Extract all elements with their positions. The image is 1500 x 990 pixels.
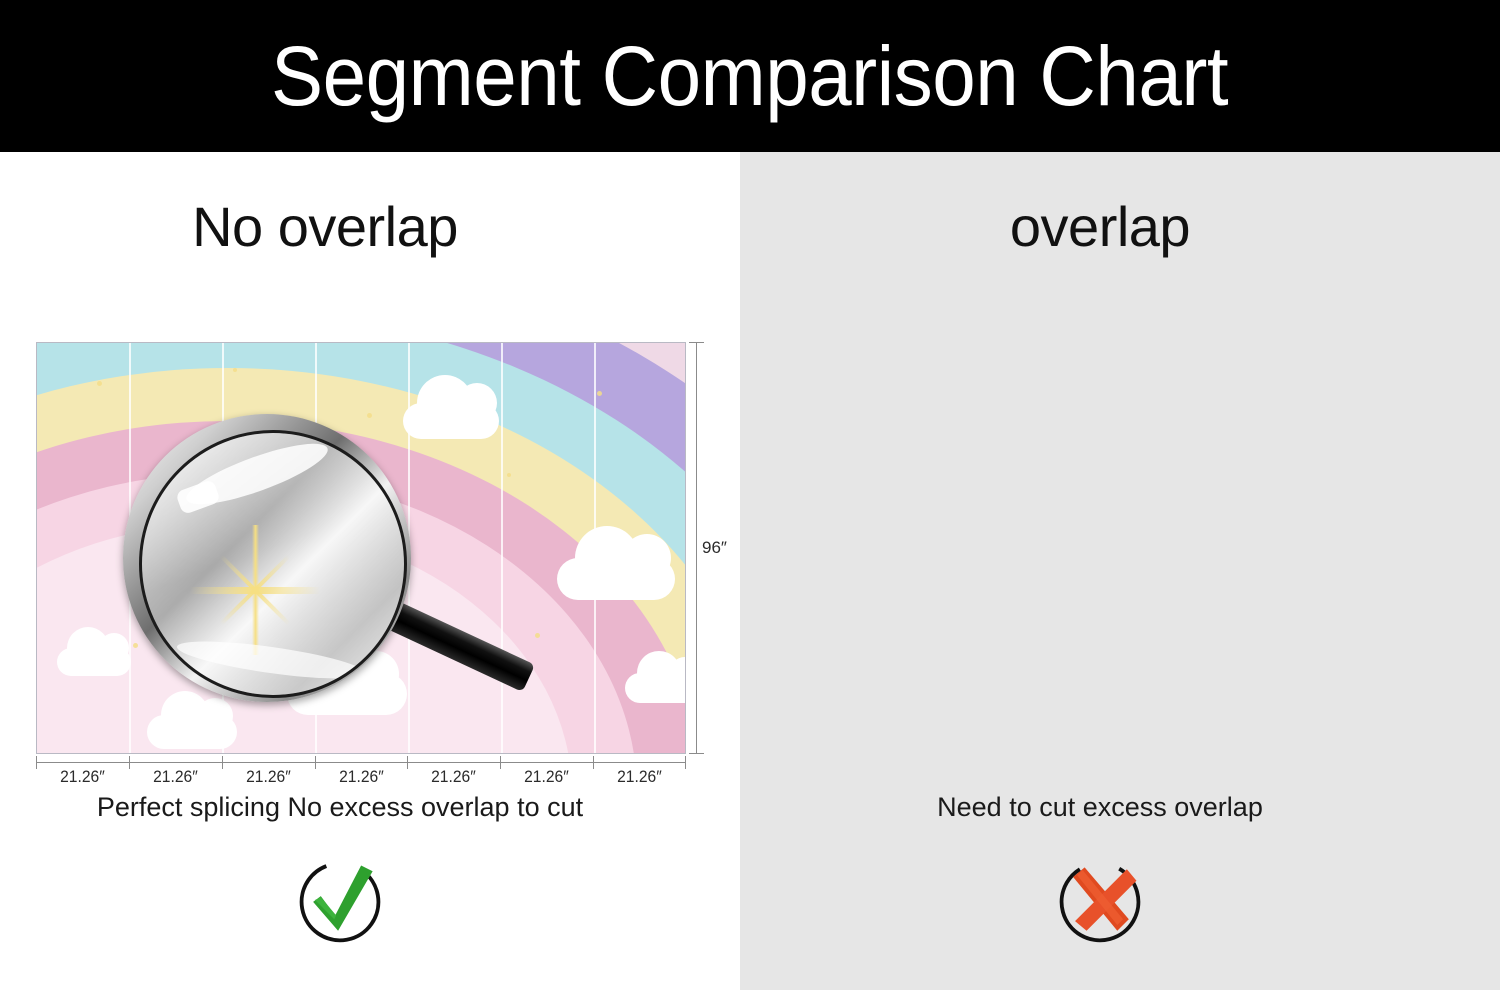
segment-width-label: 21.26″ bbox=[597, 767, 682, 787]
sparkle-icon bbox=[233, 368, 237, 372]
segment-width-label: 21.26″ bbox=[225, 767, 310, 787]
magnifier-ring bbox=[123, 414, 411, 702]
cloud-icon bbox=[403, 403, 499, 439]
cloud-icon bbox=[557, 558, 675, 600]
segment-width-label: 21.26″ bbox=[504, 767, 589, 787]
dimension-tick bbox=[222, 756, 223, 769]
cross-mark-icon bbox=[1052, 852, 1148, 948]
dimension-tick bbox=[593, 756, 594, 769]
dimension-cap bbox=[689, 342, 704, 343]
verdict-cross bbox=[740, 852, 1500, 948]
dimension-tick bbox=[36, 756, 37, 769]
height-dimension-line-left: 96″ bbox=[688, 342, 726, 754]
magnifier-lens bbox=[139, 430, 407, 698]
dimension-axis bbox=[36, 762, 686, 763]
check-mark-icon bbox=[292, 852, 388, 948]
mural-seam-line bbox=[594, 343, 596, 753]
sparkle-icon bbox=[97, 381, 102, 386]
page-title: Segment Comparison Chart bbox=[271, 34, 1228, 118]
caption-left: Perfect splicing No excess overlap to cu… bbox=[0, 792, 740, 823]
dimension-tick bbox=[129, 756, 130, 769]
caption-right: Need to cut excess overlap bbox=[740, 792, 1500, 823]
dimension-tick bbox=[500, 756, 501, 769]
dimension-tick bbox=[685, 756, 686, 769]
magnifying-glass-icon bbox=[117, 408, 417, 708]
panel-overlap: overlap bbox=[740, 152, 1500, 990]
dimension-tick bbox=[407, 756, 408, 769]
mural-image-left bbox=[36, 342, 686, 754]
panel-heading-left: No overlap bbox=[0, 194, 740, 259]
segment-width-label: 21.26″ bbox=[133, 767, 218, 787]
figure-no-overlap: 21.26″21.26″21.26″21.26″21.26″21.26″21.2… bbox=[36, 342, 686, 754]
dimension-cap bbox=[689, 753, 704, 754]
segment-width-label: 21.26″ bbox=[40, 767, 125, 787]
width-dimension-line-left: 21.26″21.26″21.26″21.26″21.26″21.26″21.2… bbox=[36, 756, 686, 790]
cloud-icon bbox=[625, 673, 686, 703]
sparkle-icon bbox=[507, 473, 511, 477]
panel-heading-right: overlap bbox=[740, 194, 1500, 259]
height-label-left: 96″ bbox=[702, 538, 727, 558]
panel-no-overlap: No overlap bbox=[0, 152, 740, 990]
segment-width-label: 21.26″ bbox=[411, 767, 496, 787]
segment-width-label: 21.26″ bbox=[318, 767, 403, 787]
star-burst-icon bbox=[190, 525, 320, 655]
sparkle-icon bbox=[535, 633, 540, 638]
panel-container: No overlap bbox=[0, 152, 1500, 990]
title-banner: Segment Comparison Chart bbox=[0, 0, 1500, 152]
verdict-check bbox=[0, 852, 740, 948]
dimension-tick bbox=[315, 756, 316, 769]
dimension-axis bbox=[696, 342, 697, 754]
comparison-chart-page: Segment Comparison Chart No overlap bbox=[0, 0, 1500, 990]
mural-seam-line bbox=[501, 343, 503, 753]
sparkle-icon bbox=[597, 391, 602, 396]
